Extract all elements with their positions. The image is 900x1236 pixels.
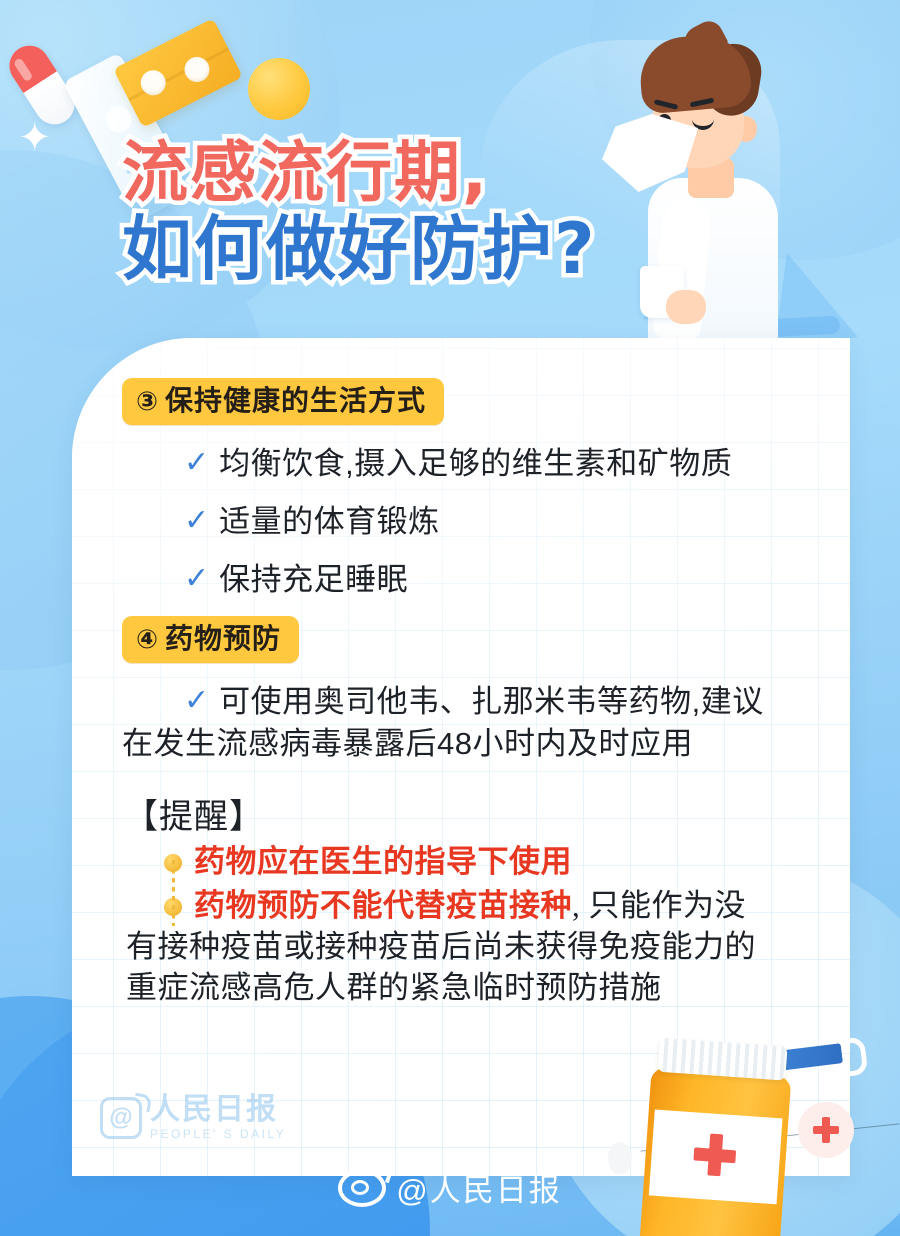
reminder-point-2-rest: , 只能作为没 (572, 888, 746, 923)
poster-root: ✦ ✦ 流感流行期, 如何做好防护? ③保持健康的生活方式 (0, 0, 900, 1236)
list-item-label: 均衡饮食,摄入足够的维生素和矿物质 (219, 445, 732, 483)
medicine-box-dot (101, 102, 136, 137)
list-item: ✓ 均衡饮食,摄入足够的维生素和矿物质 (184, 445, 816, 483)
watermark-peoples-daily: @ 人民日报 PEOPLE' S DAILY (100, 1095, 286, 1140)
sneezing-man-illustration (596, 18, 826, 348)
watermark-name-en: PEOPLE' S DAILY (150, 1128, 286, 1140)
list-item-continuation: 在发生流感病毒暴露后48小时内及时应用 (122, 725, 816, 763)
reminder-point: 药物应在医生的指导下使用 (124, 842, 816, 882)
reminder-point-2-line3: 重症流感高危人群的紧急临时预防措施 (126, 968, 816, 1009)
reminder-point-1: 药物应在医生的指导下使用 (194, 842, 572, 882)
weibo-icon (338, 1169, 386, 1207)
headline-line-1: 流感流行期, (122, 138, 597, 208)
reminder-title: 【提醒】 (124, 789, 816, 838)
at-symbol-icon: @ (100, 1097, 142, 1139)
headline-line-2: 如何做好防护? (122, 212, 597, 286)
list-item-label: 可使用奥司他韦、扎那米韦等药物,建议 (219, 683, 764, 721)
check-icon: ✓ (184, 564, 209, 594)
watermark-name-cn: 人民日报 (150, 1095, 286, 1125)
man-hand (666, 290, 706, 324)
section-4-label: 药物预防 (165, 623, 281, 654)
reminder-point-2-highlight: 药物预防不能代替疫苗接种 (194, 888, 572, 923)
reminder-point-2: 药物预防不能代替疫苗接种, 只能作为没 (194, 886, 746, 926)
footer-credit: @人民日报 (0, 1165, 900, 1210)
footer-credit-text: @人民日报 (396, 1165, 561, 1210)
reminder-point-1-text: 药物应在医生的指导下使用 (194, 844, 572, 879)
section-4-number: ④ (136, 624, 159, 654)
section-badge-3: ③保持健康的生活方式 (122, 378, 444, 425)
list-item: ✓ 保持充足睡眠 (184, 561, 816, 599)
check-icon: ✓ (184, 686, 209, 716)
check-icon: ✓ (184, 506, 209, 536)
list-item-label: 保持充足睡眠 (219, 561, 408, 599)
reminder-point: 药物预防不能代替疫苗接种, 只能作为没 (124, 886, 816, 926)
orange-circle-decoration (248, 58, 310, 120)
section-3-label: 保持健康的生活方式 (165, 385, 426, 416)
list-item: ✓ 可使用奥司他韦、扎那米韦等药物,建议 (184, 683, 816, 721)
reminder-block: 药物应在医生的指导下使用 药物预防不能代替疫苗接种, 只能作为没 有接种疫苗或接… (124, 842, 816, 1008)
section-badge-4: ④药物预防 (122, 616, 299, 663)
check-icon: ✓ (184, 448, 209, 478)
list-item-label: 适量的体育锻炼 (219, 503, 440, 541)
sparkle-icon: ✦ (18, 118, 52, 158)
cross-badge-bar-vertical (822, 1117, 830, 1143)
cross-badge-icon (798, 1102, 854, 1158)
reminder-point-2-line2: 有接种疫苗或接种疫苗后尚未获得免疫能力的 (126, 927, 816, 968)
list-item: ✓ 适量的体育锻炼 (184, 503, 816, 541)
poster-headline: 流感流行期, 如何做好防护? (122, 138, 597, 286)
section-3-number: ③ (136, 386, 159, 416)
watermark-text: 人民日报 PEOPLE' S DAILY (150, 1095, 286, 1140)
reminder-dotted-connector (172, 860, 175, 926)
